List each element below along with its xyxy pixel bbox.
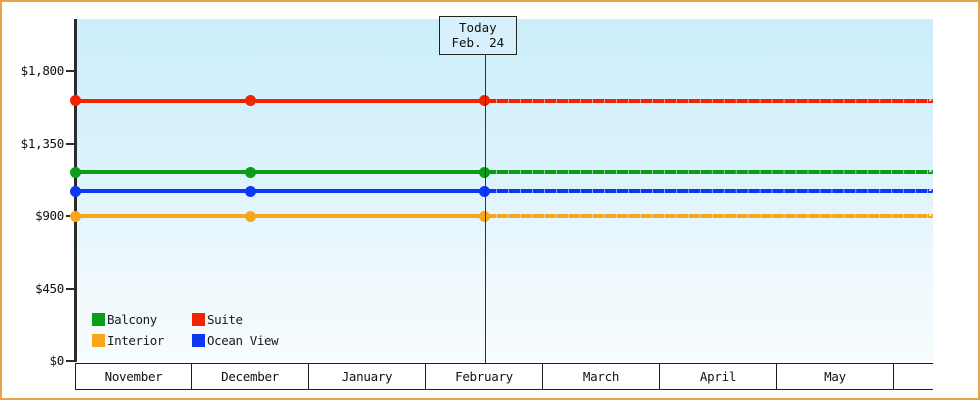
legend-label: Suite: [207, 312, 243, 327]
legend-label: Ocean View: [207, 333, 278, 348]
x-axis-month-cell[interactable]: Jun: [894, 364, 933, 389]
legend-item-balcony[interactable]: Balcony: [92, 312, 188, 327]
legend-item-interior[interactable]: Interior: [92, 333, 188, 348]
today-line: [485, 19, 487, 363]
y-axis-tick-label: $0: [4, 353, 64, 368]
legend-item-ocean-view[interactable]: Ocean View: [192, 333, 278, 348]
x-axis-month-row: NovemberDecemberJanuaryFebruaryMarchApri…: [75, 363, 933, 390]
today-label-box: Today Feb. 24: [439, 16, 518, 55]
x-axis-month-cell[interactable]: March: [543, 364, 660, 389]
legend-label: Interior: [107, 333, 164, 348]
legend-swatch-icon: [192, 313, 205, 326]
legend-item-suite[interactable]: Suite: [192, 312, 278, 327]
x-axis-month-cell[interactable]: December: [192, 364, 309, 389]
y-axis-tick-label: $900: [4, 208, 64, 223]
data-point-marker: [70, 95, 81, 106]
data-point-marker: [70, 167, 81, 178]
x-axis-month-cell[interactable]: May: [777, 364, 894, 389]
series-line-forecast-interior: [485, 214, 934, 218]
data-point-marker: [245, 167, 256, 178]
y-axis-tick-mark: [66, 143, 75, 145]
chart-frame: $1,800$1,350$900$450$0 Today Feb. 24 Bal…: [0, 0, 980, 400]
series-line-forecast-suite: [485, 99, 934, 103]
series-line-forecast-ocean-view: [485, 189, 934, 193]
series-line-actual-ocean-view: [75, 189, 485, 193]
y-axis-tick-label: $450: [4, 281, 64, 296]
series-line-actual-balcony: [75, 170, 485, 174]
legend-swatch-icon: [192, 334, 205, 347]
y-axis-tick-label: $1,350: [4, 136, 64, 151]
series-line-actual-suite: [75, 99, 485, 103]
series-line-actual-interior: [75, 214, 485, 218]
y-axis-labels: $1,800$1,350$900$450$0: [2, 2, 64, 400]
data-point-marker: [245, 211, 256, 222]
x-axis-month-cell[interactable]: February: [426, 364, 543, 389]
data-point-marker: [245, 186, 256, 197]
x-axis-month-cell[interactable]: January: [309, 364, 426, 389]
today-label-line2: Feb. 24: [452, 35, 505, 50]
legend-label: Balcony: [107, 312, 157, 327]
chart-legend: BalconySuiteInteriorOcean View: [92, 312, 278, 348]
data-point-marker: [70, 211, 81, 222]
x-axis-month-cell[interactable]: November: [75, 364, 192, 389]
series-line-forecast-balcony: [485, 170, 934, 174]
y-axis-tick-mark: [66, 360, 75, 362]
y-axis-tick-mark: [66, 70, 75, 72]
today-label-line1: Today: [452, 20, 505, 35]
y-axis-tick-mark: [66, 288, 75, 290]
legend-swatch-icon: [92, 334, 105, 347]
x-axis-month-cell[interactable]: April: [660, 364, 777, 389]
y-axis-tick-label: $1,800: [4, 63, 64, 78]
data-point-marker: [70, 186, 81, 197]
legend-swatch-icon: [92, 313, 105, 326]
